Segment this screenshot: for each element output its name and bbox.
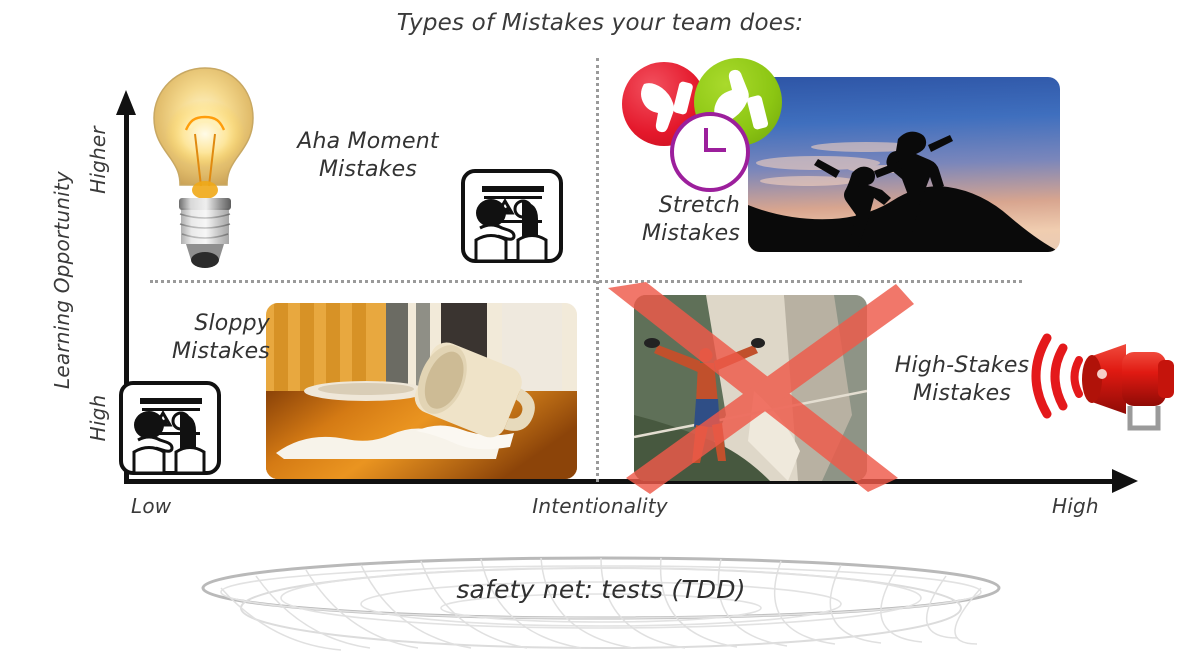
quadrant-label-sloppy: Sloppy Mistakes (100, 310, 270, 366)
quadrant-label-aha-moment: Aha Moment Mistakes (258, 128, 478, 184)
climbers-silhouette (748, 77, 1060, 252)
mistakes-matrix-infographic: Types of Mistakes your team does: Learni… (0, 0, 1200, 662)
quadrant-label-high-stakes: High-Stakes Mistakes (862, 352, 1062, 408)
team-whiteboard-icon (118, 380, 222, 476)
quadrant-label-stretch: Stretch Mistakes (520, 192, 740, 248)
y-axis-tick-higher: Higher (86, 100, 110, 220)
helping-hand-climbers-photo (748, 77, 1060, 252)
y-axis-title: Learning Opportunity (50, 140, 74, 420)
lightbulb-photo (148, 62, 262, 274)
y-axis-arrow-icon (116, 90, 136, 115)
x-axis-tick-high: High (1052, 494, 1099, 518)
safety-net-label: safety net: tests (TDD) (196, 575, 1006, 604)
x-axis-arrow-icon (1112, 469, 1138, 493)
spilled-coffee-mug-photo (266, 303, 577, 479)
page-title: Types of Mistakes your team does: (0, 10, 1200, 36)
spill-scene (266, 303, 577, 479)
vertical-quadrant-divider (596, 58, 599, 482)
clock-icon (670, 112, 750, 192)
y-axis-tick-high: High (86, 358, 110, 478)
